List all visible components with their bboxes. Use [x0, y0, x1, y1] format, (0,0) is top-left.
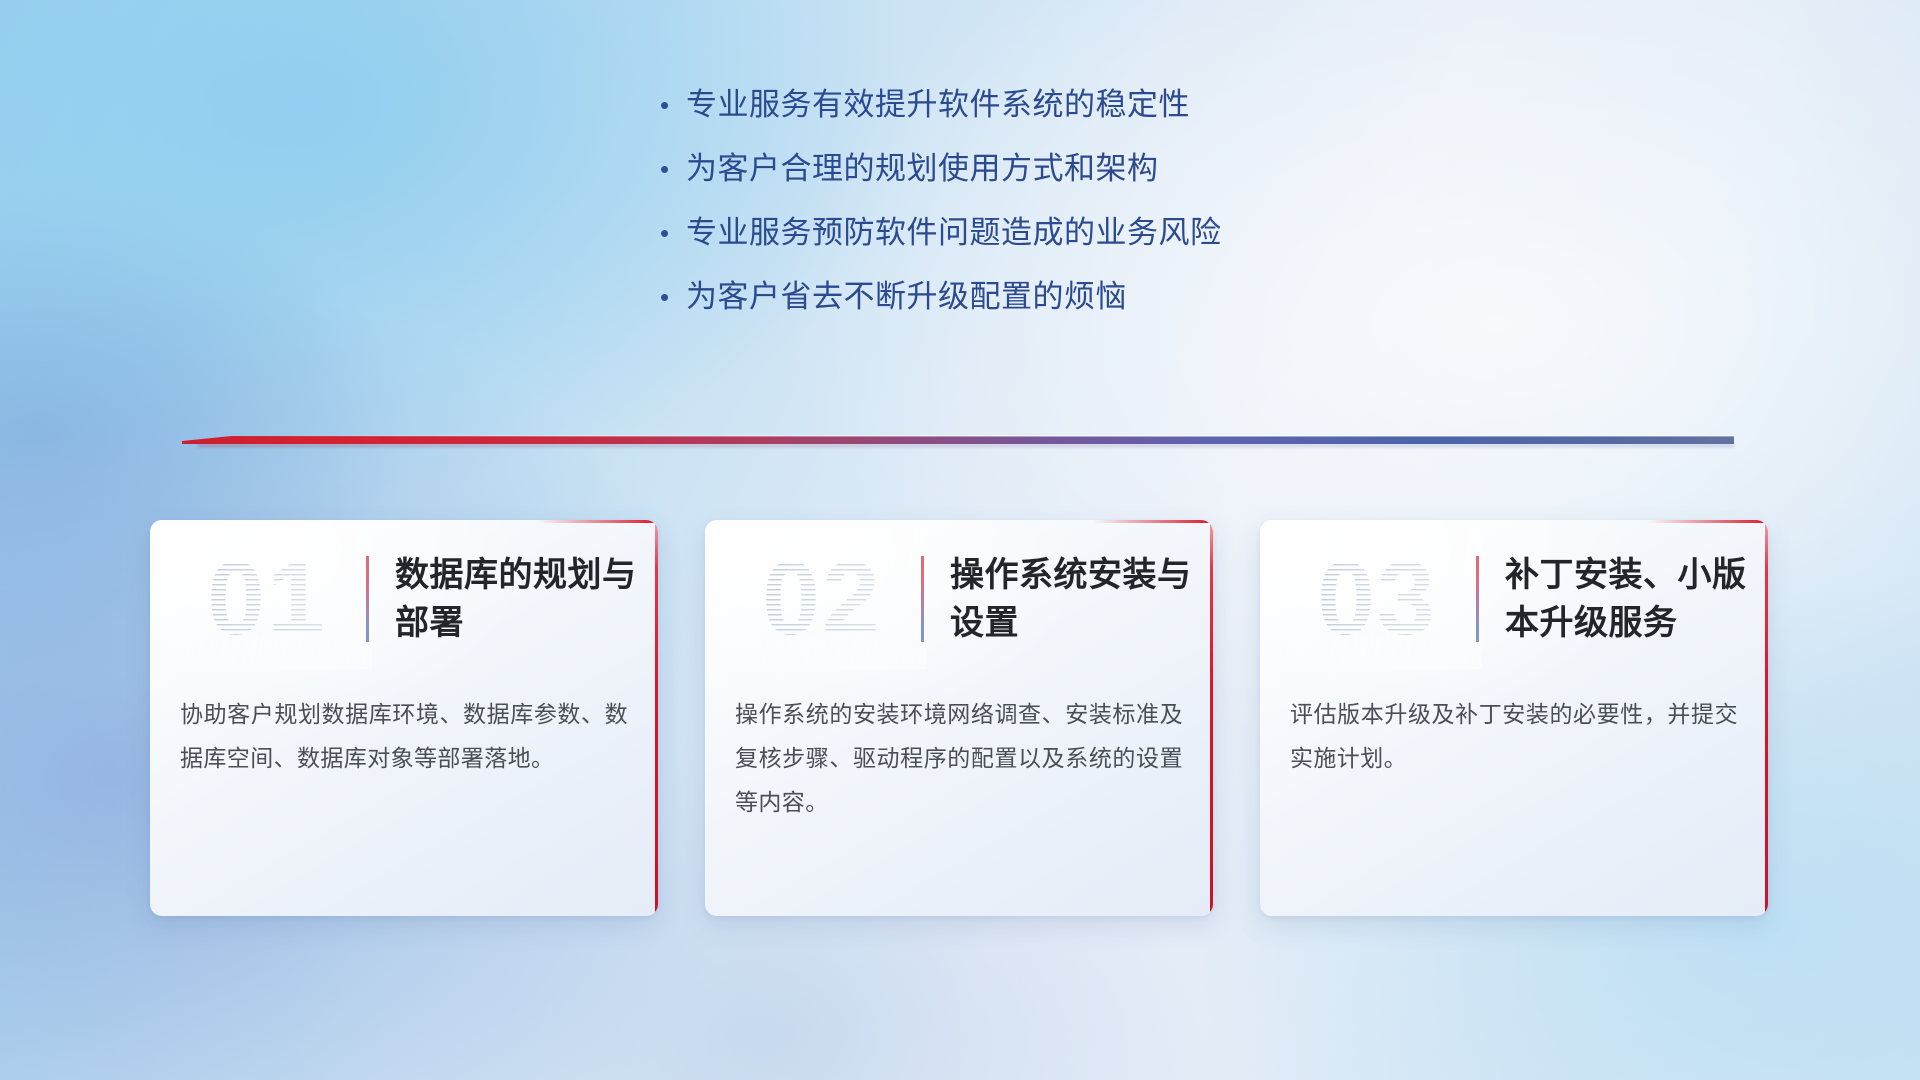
card-title-rule	[921, 556, 924, 642]
divider-bar	[182, 436, 1734, 444]
service-card[interactable]: 02 操作系统安装与设置 操作系统的安装环境网络调查、安装标准及复核步骤、驱动程…	[705, 520, 1213, 916]
card-body-text: 评估版本升级及补丁安装的必要性，并提交实施计划。	[1290, 692, 1738, 780]
divider-shadow	[198, 444, 1734, 447]
bullet-dot-icon: •	[660, 280, 686, 314]
section-divider	[182, 432, 1734, 448]
service-card[interactable]: 01 数据库的规划与部署 协助客户规划数据库环境、数据库参数、数据库空间、数据库…	[150, 520, 658, 916]
card-title-rule	[366, 556, 369, 642]
card-accent-top	[1648, 520, 1768, 523]
card-body-text: 操作系统的安装环境网络调查、安装标准及复核步骤、驱动程序的配置以及系统的设置等内…	[735, 692, 1183, 824]
bullet-text: 为客户省去不断升级配置的烦恼	[686, 280, 1127, 314]
card-title-rule	[1476, 556, 1479, 642]
card-body-text: 协助客户规划数据库环境、数据库参数、数据库空间、数据库对象等部署落地。	[180, 692, 628, 780]
card-header: 01 数据库的规划与部署	[150, 534, 658, 664]
slide-stage: • 专业服务有效提升软件系统的稳定性 • 为客户合理的规划使用方式和架构 • 专…	[0, 0, 1920, 1080]
bullet-text: 专业服务预防软件问题造成的业务风险	[686, 216, 1222, 250]
service-card[interactable]: 03 补丁安装、小版本升级服务 评估版本升级及补丁安装的必要性，并提交实施计划。	[1260, 520, 1768, 916]
card-title: 补丁安装、小版本升级服务	[1505, 551, 1768, 647]
card-title: 操作系统安装与设置	[950, 551, 1213, 647]
card-number-watermark: 03	[1282, 539, 1472, 659]
card-header: 03 补丁安装、小版本升级服务	[1260, 534, 1768, 664]
list-item: • 为客户省去不断升级配置的烦恼	[660, 280, 1460, 344]
divider-highlight	[213, 435, 1734, 437]
list-item: • 为客户合理的规划使用方式和架构	[660, 152, 1460, 216]
list-item: • 专业服务有效提升软件系统的稳定性	[660, 88, 1460, 152]
bullet-text: 专业服务有效提升软件系统的稳定性	[686, 88, 1190, 122]
card-number-watermark: 01	[172, 539, 362, 659]
card-header: 02 操作系统安装与设置	[705, 534, 1213, 664]
bullet-dot-icon: •	[660, 216, 686, 250]
card-accent-top	[1093, 520, 1213, 523]
bullet-text: 为客户合理的规划使用方式和架构	[686, 152, 1159, 186]
list-item: • 专业服务预防软件问题造成的业务风险	[660, 216, 1460, 280]
service-card-group: 01 数据库的规划与部署 协助客户规划数据库环境、数据库参数、数据库空间、数据库…	[150, 520, 1770, 920]
card-number-watermark: 02	[727, 539, 917, 659]
benefits-bullet-list: • 专业服务有效提升软件系统的稳定性 • 为客户合理的规划使用方式和架构 • 专…	[660, 88, 1460, 344]
bullet-dot-icon: •	[660, 152, 686, 186]
card-title: 数据库的规划与部署	[395, 551, 658, 647]
card-accent-top	[538, 520, 658, 523]
bullet-dot-icon: •	[660, 88, 686, 122]
